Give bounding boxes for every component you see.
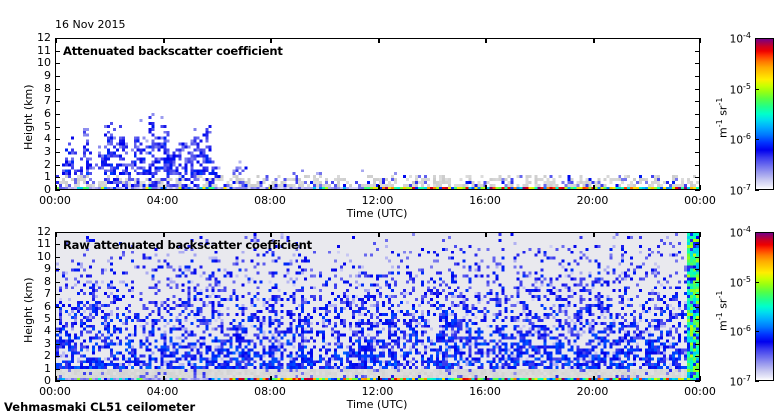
y-tick-mark (695, 319, 700, 321)
y-tick-mark (55, 269, 60, 271)
date-label: 16 Nov 2015 (55, 18, 125, 31)
x-tick-mark (55, 232, 57, 237)
y-tick-label: 3 (25, 146, 51, 157)
y-tick-mark (55, 294, 60, 296)
x-tick-mark (55, 376, 57, 381)
x-tick-mark (485, 376, 487, 381)
y-tick-mark (695, 101, 700, 103)
y-tick-label: 10 (25, 251, 51, 262)
y-tick-label: 9 (25, 263, 51, 274)
y-tick-label: 8 (25, 83, 51, 94)
y-tick-mark (695, 63, 700, 65)
panel2-x-axis-title: Time (UTC) (317, 398, 437, 411)
y-tick-label: 9 (25, 70, 51, 81)
y-tick-mark (695, 139, 700, 141)
y-tick-label: 1 (25, 171, 51, 182)
x-tick-mark (593, 185, 595, 190)
y-tick-label: 4 (25, 325, 51, 336)
colorbar-tick-mark (755, 38, 759, 40)
y-tick-mark (695, 269, 700, 271)
y-tick-label: 5 (25, 121, 51, 132)
y-tick-mark (695, 51, 700, 53)
y-tick-label: 11 (25, 45, 51, 56)
colorbar-tick-mark (755, 381, 759, 383)
x-tick-mark (55, 185, 57, 190)
y-tick-label: 2 (25, 159, 51, 170)
y-tick-mark (695, 244, 700, 246)
x-tick-mark (270, 376, 272, 381)
x-tick-mark (270, 38, 272, 43)
x-tick-mark (593, 232, 595, 237)
x-tick-label: 00:00 (25, 385, 85, 398)
y-tick-label: 3 (25, 338, 51, 349)
x-tick-mark (485, 232, 487, 237)
y-tick-mark (695, 89, 700, 91)
x-tick-label: 04:00 (133, 194, 193, 207)
y-tick-mark (55, 101, 60, 103)
y-tick-mark (695, 177, 700, 179)
x-tick-label: 12:00 (348, 385, 408, 398)
panel-attenuated-backscatter (55, 38, 700, 190)
x-tick-mark (163, 376, 165, 381)
y-tick-mark (55, 165, 60, 167)
colorbar-panel2 (755, 232, 774, 381)
y-tick-label: 7 (25, 95, 51, 106)
colorbar-tick-label: 10-7 (721, 183, 751, 198)
y-tick-mark (55, 51, 60, 53)
y-tick-mark (695, 294, 700, 296)
y-tick-label: 10 (25, 57, 51, 68)
y-tick-mark (55, 356, 60, 358)
x-tick-mark (593, 38, 595, 43)
colorbar-tick-mark (755, 282, 759, 284)
panel-raw-attenuated-backscatter (55, 232, 700, 381)
y-tick-mark (55, 76, 60, 78)
y-tick-label: 7 (25, 288, 51, 299)
x-tick-mark (163, 185, 165, 190)
y-tick-mark (55, 152, 60, 154)
colorbar-panel1 (755, 38, 774, 190)
colorbar-tick-mark (755, 232, 759, 234)
x-tick-mark (485, 38, 487, 43)
x-tick-mark (378, 232, 380, 237)
y-tick-mark (55, 244, 60, 246)
x-tick-label: 16:00 (455, 194, 515, 207)
x-tick-label: 08:00 (240, 385, 300, 398)
y-tick-label: 11 (25, 238, 51, 249)
y-tick-mark (695, 127, 700, 129)
y-tick-mark (55, 282, 60, 284)
y-tick-label: 12 (25, 226, 51, 237)
x-tick-mark (378, 376, 380, 381)
colorbar-tick-mark (755, 331, 759, 333)
x-tick-mark (699, 38, 701, 43)
x-tick-mark (593, 376, 595, 381)
x-tick-label: 04:00 (133, 385, 193, 398)
y-tick-mark (695, 165, 700, 167)
colorbar-tick-label: 10-7 (721, 374, 751, 389)
x-tick-mark (378, 185, 380, 190)
panel2-title: Raw attenuated backscatter coefficient (63, 238, 312, 252)
y-tick-label: 6 (25, 301, 51, 312)
colorbar-axis-title: m-1 sr-1 (715, 98, 730, 138)
x-tick-mark (699, 185, 701, 190)
y-tick-mark (55, 307, 60, 309)
y-tick-mark (55, 127, 60, 129)
x-tick-mark (55, 38, 57, 43)
colorbar-tick-label: 10-5 (721, 82, 751, 97)
y-tick-mark (55, 114, 60, 116)
y-tick-mark (55, 63, 60, 65)
y-tick-mark (55, 257, 60, 259)
y-tick-label: 8 (25, 276, 51, 287)
x-tick-mark (163, 232, 165, 237)
y-tick-label: 6 (25, 108, 51, 119)
x-tick-mark (270, 185, 272, 190)
x-tick-mark (699, 232, 701, 237)
colorbar-tick-label: 10-4 (721, 31, 751, 46)
y-tick-mark (55, 344, 60, 346)
y-tick-label: 2 (25, 350, 51, 361)
y-tick-mark (695, 344, 700, 346)
y-tick-mark (55, 177, 60, 179)
x-tick-mark (485, 185, 487, 190)
y-tick-mark (695, 307, 700, 309)
y-tick-mark (695, 114, 700, 116)
y-tick-label: 5 (25, 313, 51, 324)
y-tick-label: 12 (25, 32, 51, 43)
x-tick-label: 08:00 (240, 194, 300, 207)
y-tick-mark (695, 257, 700, 259)
colorbar-tick-mark (755, 89, 759, 91)
x-tick-label: 20:00 (563, 385, 623, 398)
x-tick-label: 00:00 (25, 194, 85, 207)
y-tick-mark (695, 369, 700, 371)
panel1-title: Attenuated backscatter coefficient (63, 44, 283, 58)
y-tick-mark (55, 331, 60, 333)
colorbar-tick-mark (755, 190, 759, 192)
colorbar-tick-label: 10-5 (721, 275, 751, 290)
y-tick-mark (695, 152, 700, 154)
y-tick-mark (55, 139, 60, 141)
x-tick-mark (163, 38, 165, 43)
x-tick-mark (378, 38, 380, 43)
y-tick-mark (695, 356, 700, 358)
y-tick-label: 4 (25, 133, 51, 144)
footer-site-label: Vehmasmaki CL51 ceilometer (4, 400, 195, 414)
panel1-x-axis-title: Time (UTC) (317, 207, 437, 220)
y-tick-mark (55, 319, 60, 321)
x-tick-label: 16:00 (455, 385, 515, 398)
y-tick-mark (55, 89, 60, 91)
y-tick-mark (695, 76, 700, 78)
colorbar-tick-mark (755, 139, 759, 141)
raw-attenuated-backscatter-heatmap (56, 233, 699, 380)
y-tick-mark (695, 282, 700, 284)
attenuated-backscatter-heatmap (56, 39, 699, 189)
x-tick-label: 12:00 (348, 194, 408, 207)
colorbar-axis-title: m-1 sr-1 (715, 290, 730, 330)
x-tick-mark (270, 232, 272, 237)
x-tick-mark (699, 376, 701, 381)
y-tick-mark (55, 369, 60, 371)
y-tick-label: 1 (25, 363, 51, 374)
y-tick-mark (695, 331, 700, 333)
colorbar-tick-label: 10-4 (721, 225, 751, 240)
x-tick-label: 20:00 (563, 194, 623, 207)
